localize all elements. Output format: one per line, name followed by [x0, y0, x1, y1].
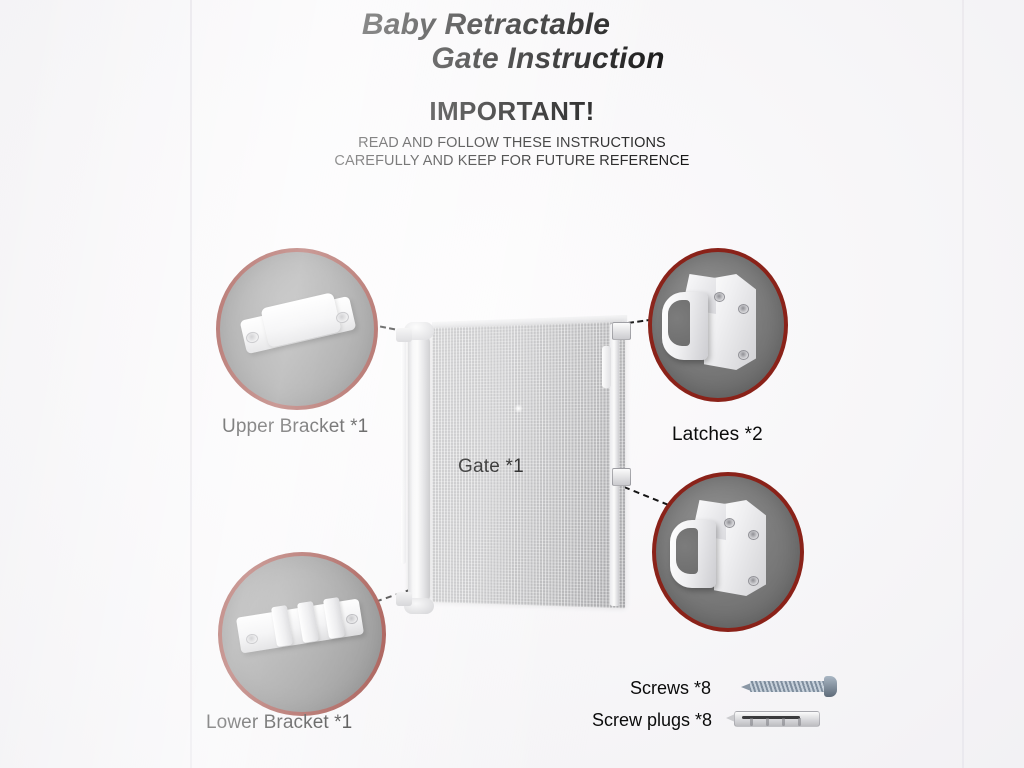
- caption-screw-plugs: Screw plugs *8: [592, 710, 712, 731]
- instruction-page: Baby Retractable Gate Instruction IMPORT…: [0, 0, 1024, 768]
- caption-upper-bracket: Upper Bracket *1: [222, 416, 368, 438]
- safety-notice-line-2: CAREFULLY AND KEEP FOR FUTURE REFERENCE: [0, 152, 1024, 170]
- gate-strike-plate: [602, 346, 611, 388]
- callout-latch-bottom[interactable]: [652, 472, 804, 632]
- safety-notice: READ AND FOLLOW THESE INSTRUCTIONS CAREF…: [0, 134, 1024, 170]
- gate-post-groove: [401, 340, 406, 564]
- page-title: Baby Retractable Gate Instruction: [0, 8, 1024, 76]
- caption-screws: Screws *8: [630, 678, 711, 699]
- gate-leading-edge-rail: [610, 324, 619, 606]
- latch-illustration: [656, 476, 800, 628]
- gate-upper-mount: [396, 328, 412, 342]
- gate-latch-pin-bottom: [612, 468, 631, 486]
- caption-lower-bracket: Lower Bracket *1: [206, 712, 352, 734]
- screw-icon: [750, 674, 846, 700]
- gate-highlight: [514, 404, 523, 413]
- gate-illustration[interactable]: Gate *1: [396, 318, 628, 618]
- screw-plug-icon: [734, 706, 838, 732]
- safety-notice-line-1: READ AND FOLLOW THESE INSTRUCTIONS: [0, 134, 1024, 152]
- important-heading: IMPORTANT!: [0, 96, 1024, 127]
- gate-housing-post: [408, 336, 430, 602]
- title-line-2: Gate Instruction: [72, 42, 1024, 76]
- upper-bracket-illustration: [220, 252, 374, 406]
- title-line-1: Baby Retractable: [0, 8, 1024, 42]
- gate-latch-pin-top: [612, 322, 631, 340]
- callout-latch-top[interactable]: [648, 248, 788, 402]
- callout-upper-bracket[interactable]: [216, 248, 378, 410]
- caption-gate: Gate *1: [458, 456, 524, 478]
- caption-latches: Latches *2: [672, 424, 763, 446]
- callout-lower-bracket[interactable]: [218, 552, 386, 716]
- gate-lower-mount: [396, 592, 412, 606]
- lower-bracket-illustration: [222, 556, 382, 712]
- latch-illustration: [652, 252, 784, 398]
